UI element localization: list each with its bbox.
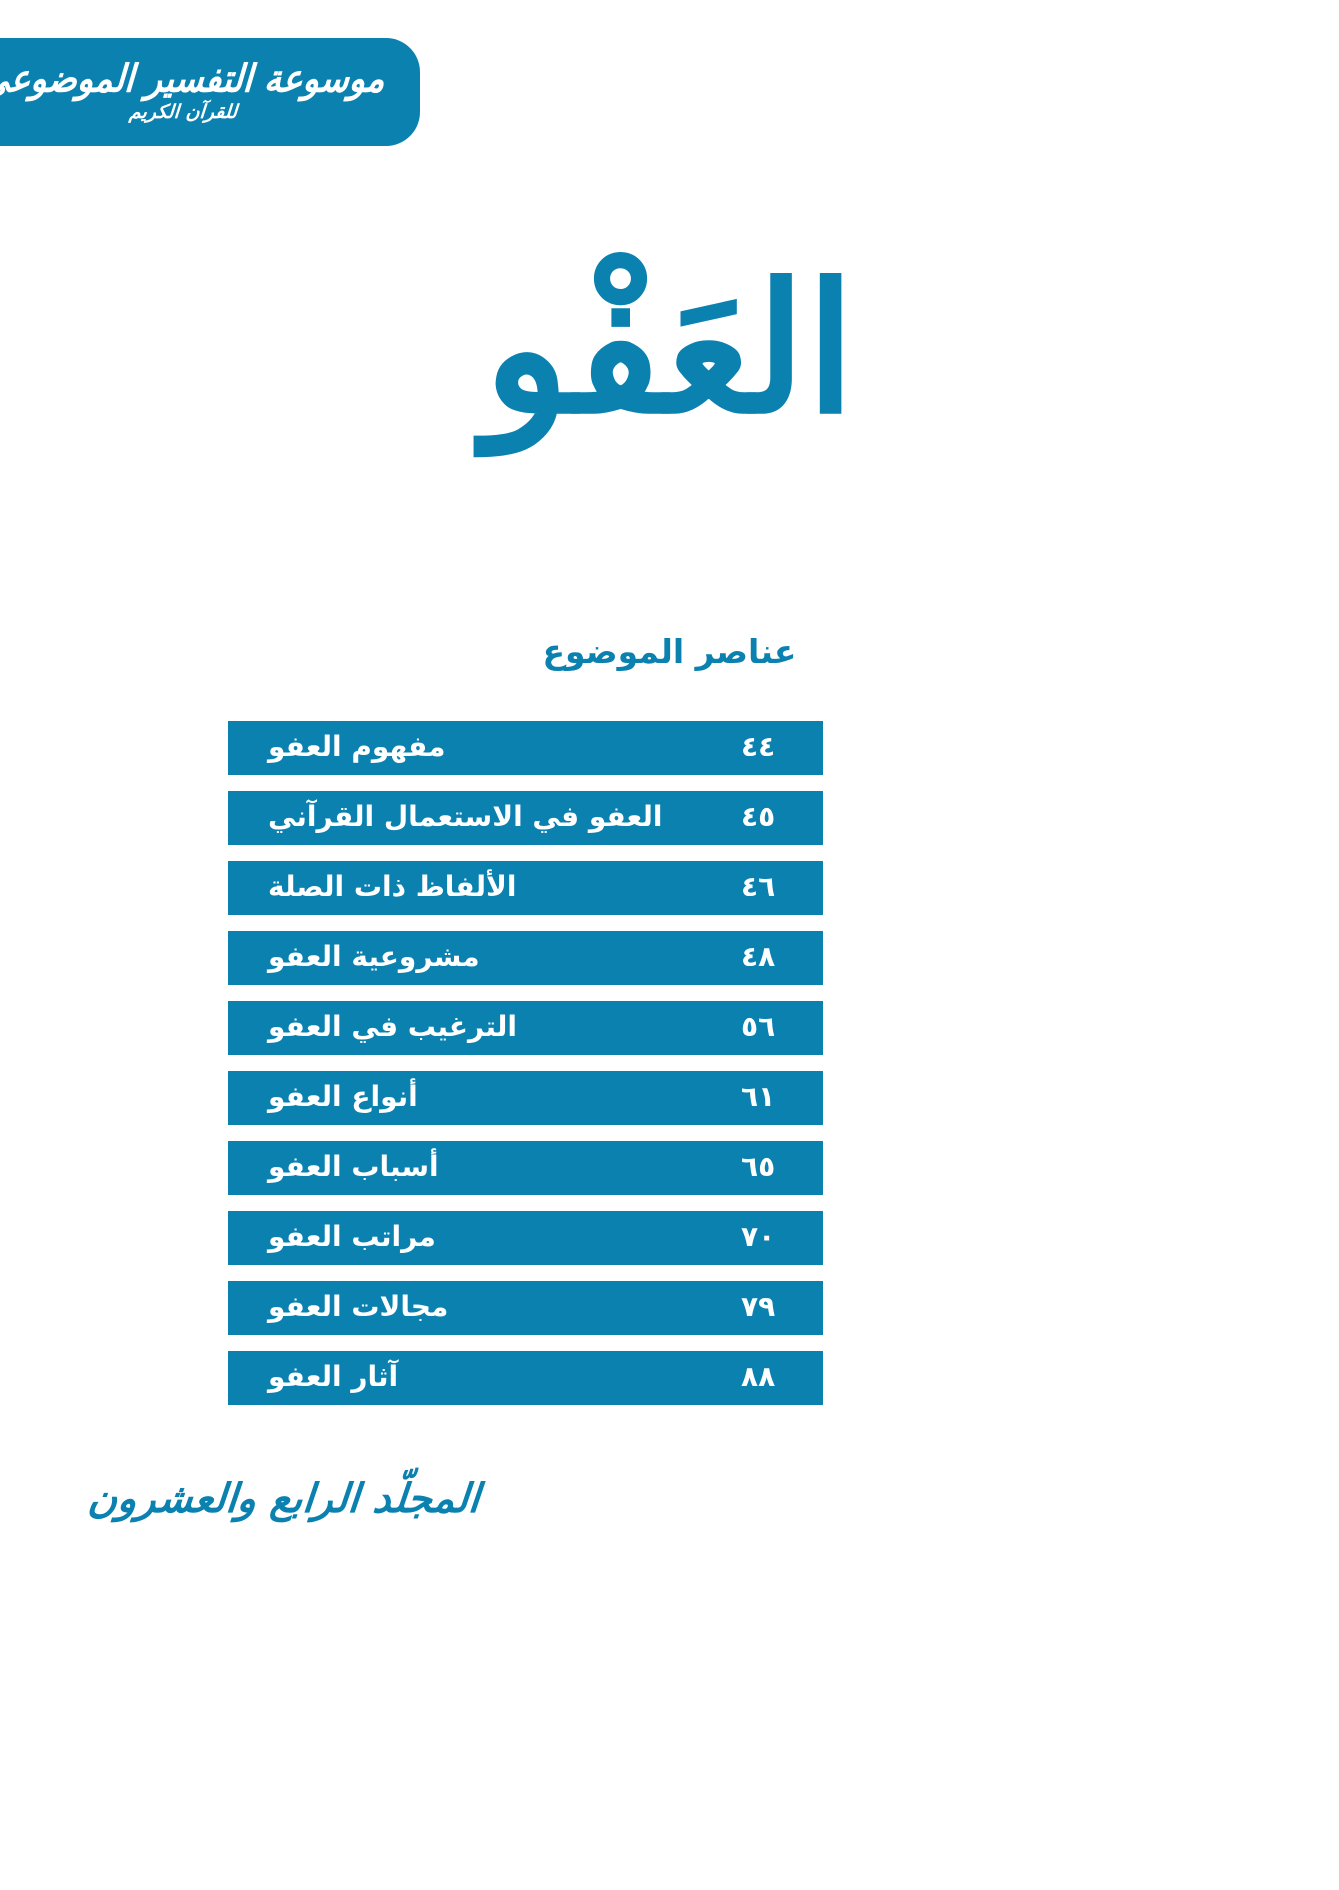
toc-page-number: ٧٩ (741, 1293, 801, 1324)
toc-row[interactable]: ٨٨ آثار العفو (228, 1351, 823, 1405)
toc-page-number: ٤٥ (741, 803, 801, 834)
toc-entry-label: الترغيب في العفو (268, 1013, 517, 1044)
toc-row[interactable]: ٧٩ مجالات العفو (228, 1281, 823, 1335)
logo-title: موسوعة التفسير الموضوعي (0, 60, 386, 98)
section-heading: عناصر الموضوع (0, 632, 1339, 671)
toc-entry-label: أنواع العفو (268, 1083, 418, 1114)
toc-entry-label: مفهوم العفو (268, 733, 445, 764)
toc-page-number: ٤٨ (741, 943, 801, 974)
toc-entry-label: مراتب العفو (268, 1223, 436, 1254)
toc-row[interactable]: ٤٦ الألفاظ ذات الصلة (228, 861, 823, 915)
toc-page-number: ٦٥ (741, 1153, 801, 1184)
toc-page-number: ٧٠ (741, 1223, 801, 1254)
toc-entry-label: مشروعية العفو (268, 943, 480, 974)
toc-row[interactable]: ٤٥ العفو في الاستعمال القرآني (228, 791, 823, 845)
toc-row[interactable]: ٤٤ مفهوم العفو (228, 721, 823, 775)
toc-page-number: ٦١ (741, 1083, 801, 1114)
toc-row[interactable]: ٦١ أنواع العفو (228, 1071, 823, 1125)
toc-entry-label: مجالات العفو (268, 1293, 448, 1324)
toc-page-number: ٤٦ (741, 873, 801, 904)
toc-page-number: ٤٤ (741, 733, 801, 764)
table-of-contents: ٤٤ مفهوم العفو ٤٥ العفو في الاستعمال الق… (228, 721, 823, 1421)
page-title: العَفْو (0, 232, 1339, 467)
toc-row[interactable]: ٥٦ الترغيب في العفو (228, 1001, 823, 1055)
toc-page-number: ٨٨ (741, 1363, 801, 1394)
toc-row[interactable]: ٤٨ مشروعية العفو (228, 931, 823, 985)
logo-text-stack: موسوعة التفسير الموضوعي للقرآن الكريم (0, 62, 384, 122)
toc-page-number: ٥٦ (741, 1013, 801, 1044)
logo-subtitle: للقرآن الكريم (128, 103, 237, 122)
toc-entry-label: آثار العفو (268, 1363, 398, 1394)
encyclopedia-logo-plaque: موسوعة التفسير الموضوعي للقرآن الكريم (0, 38, 420, 146)
toc-row[interactable]: ٦٥ أسباب العفو (228, 1141, 823, 1195)
toc-row[interactable]: ٧٠ مراتب العفو (228, 1211, 823, 1265)
toc-entry-label: أسباب العفو (268, 1153, 439, 1184)
toc-entry-label: الألفاظ ذات الصلة (268, 873, 516, 904)
toc-entry-label: العفو في الاستعمال القرآني (268, 803, 662, 834)
volume-footer: المجلّد الرابع والعشرون (86, 1475, 482, 1522)
